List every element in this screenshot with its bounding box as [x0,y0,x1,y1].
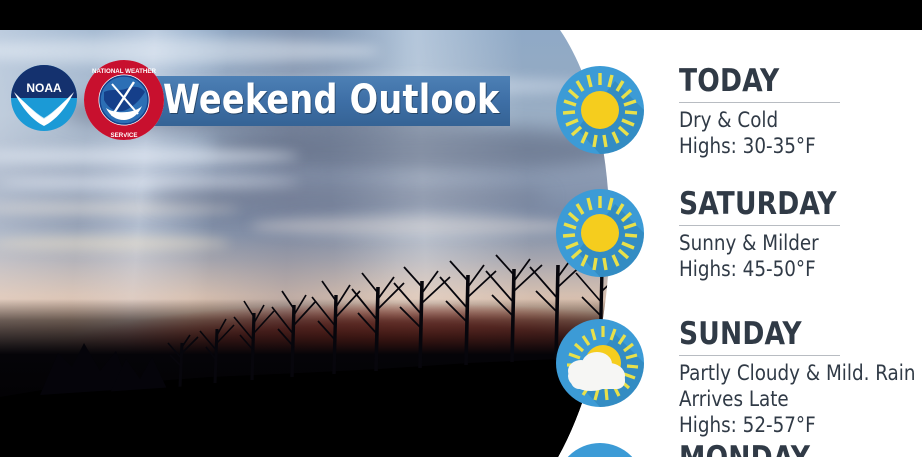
forecast-column: TODAY Dry & Cold Highs: 30-35°F [555,30,922,457]
nws-logo-label-top: NATIONAL WEATHER [92,68,156,75]
sun-icon [555,188,645,278]
day-desc-line: Partly Cloudy & Mild. Rain [679,360,915,386]
day-desc-line: Sunny & Milder [679,230,915,256]
day-name-monday: MONDAY [679,442,910,457]
nws-logo-icon: NATIONAL WEATHER SERVICE [82,58,166,142]
day-name-saturday: SATURDAY [679,188,910,221]
noaa-logo-label: NOAA [26,81,62,95]
day-desc-sunday: Partly Cloudy & Mild. Rain Arrives Late … [679,360,915,438]
day-desc-line: Highs: 52-57°F [679,412,915,438]
sun-behind-cloud-icon [555,318,645,408]
day-rule [679,102,840,103]
day-desc-line: Arrives Late [679,386,915,412]
letterbox-top-bar [0,0,922,30]
day-desc-today: Dry & Cold Highs: 30-35°F [679,107,915,159]
day-rule [679,355,840,356]
day-desc-line: Highs: 30-35°F [679,133,915,159]
day-desc-line: Highs: 45-50°F [679,256,915,282]
day-rule [679,225,840,226]
partly-cloudy-icon [555,442,645,457]
sun-icon [555,65,645,155]
page-title: Weekend Outlook [163,74,500,126]
day-desc-line: Dry & Cold [679,107,915,133]
day-name-sunday: SUNDAY [679,318,910,351]
day-desc-saturday: Sunny & Milder Highs: 45-50°F [679,230,915,282]
day-name-today: TODAY [679,65,910,98]
weather-graphic-screen: NOAA NATIONAL WEATHER SERVICE Weekend Ou… [0,0,922,457]
noaa-logo-icon: NOAA [8,62,80,134]
